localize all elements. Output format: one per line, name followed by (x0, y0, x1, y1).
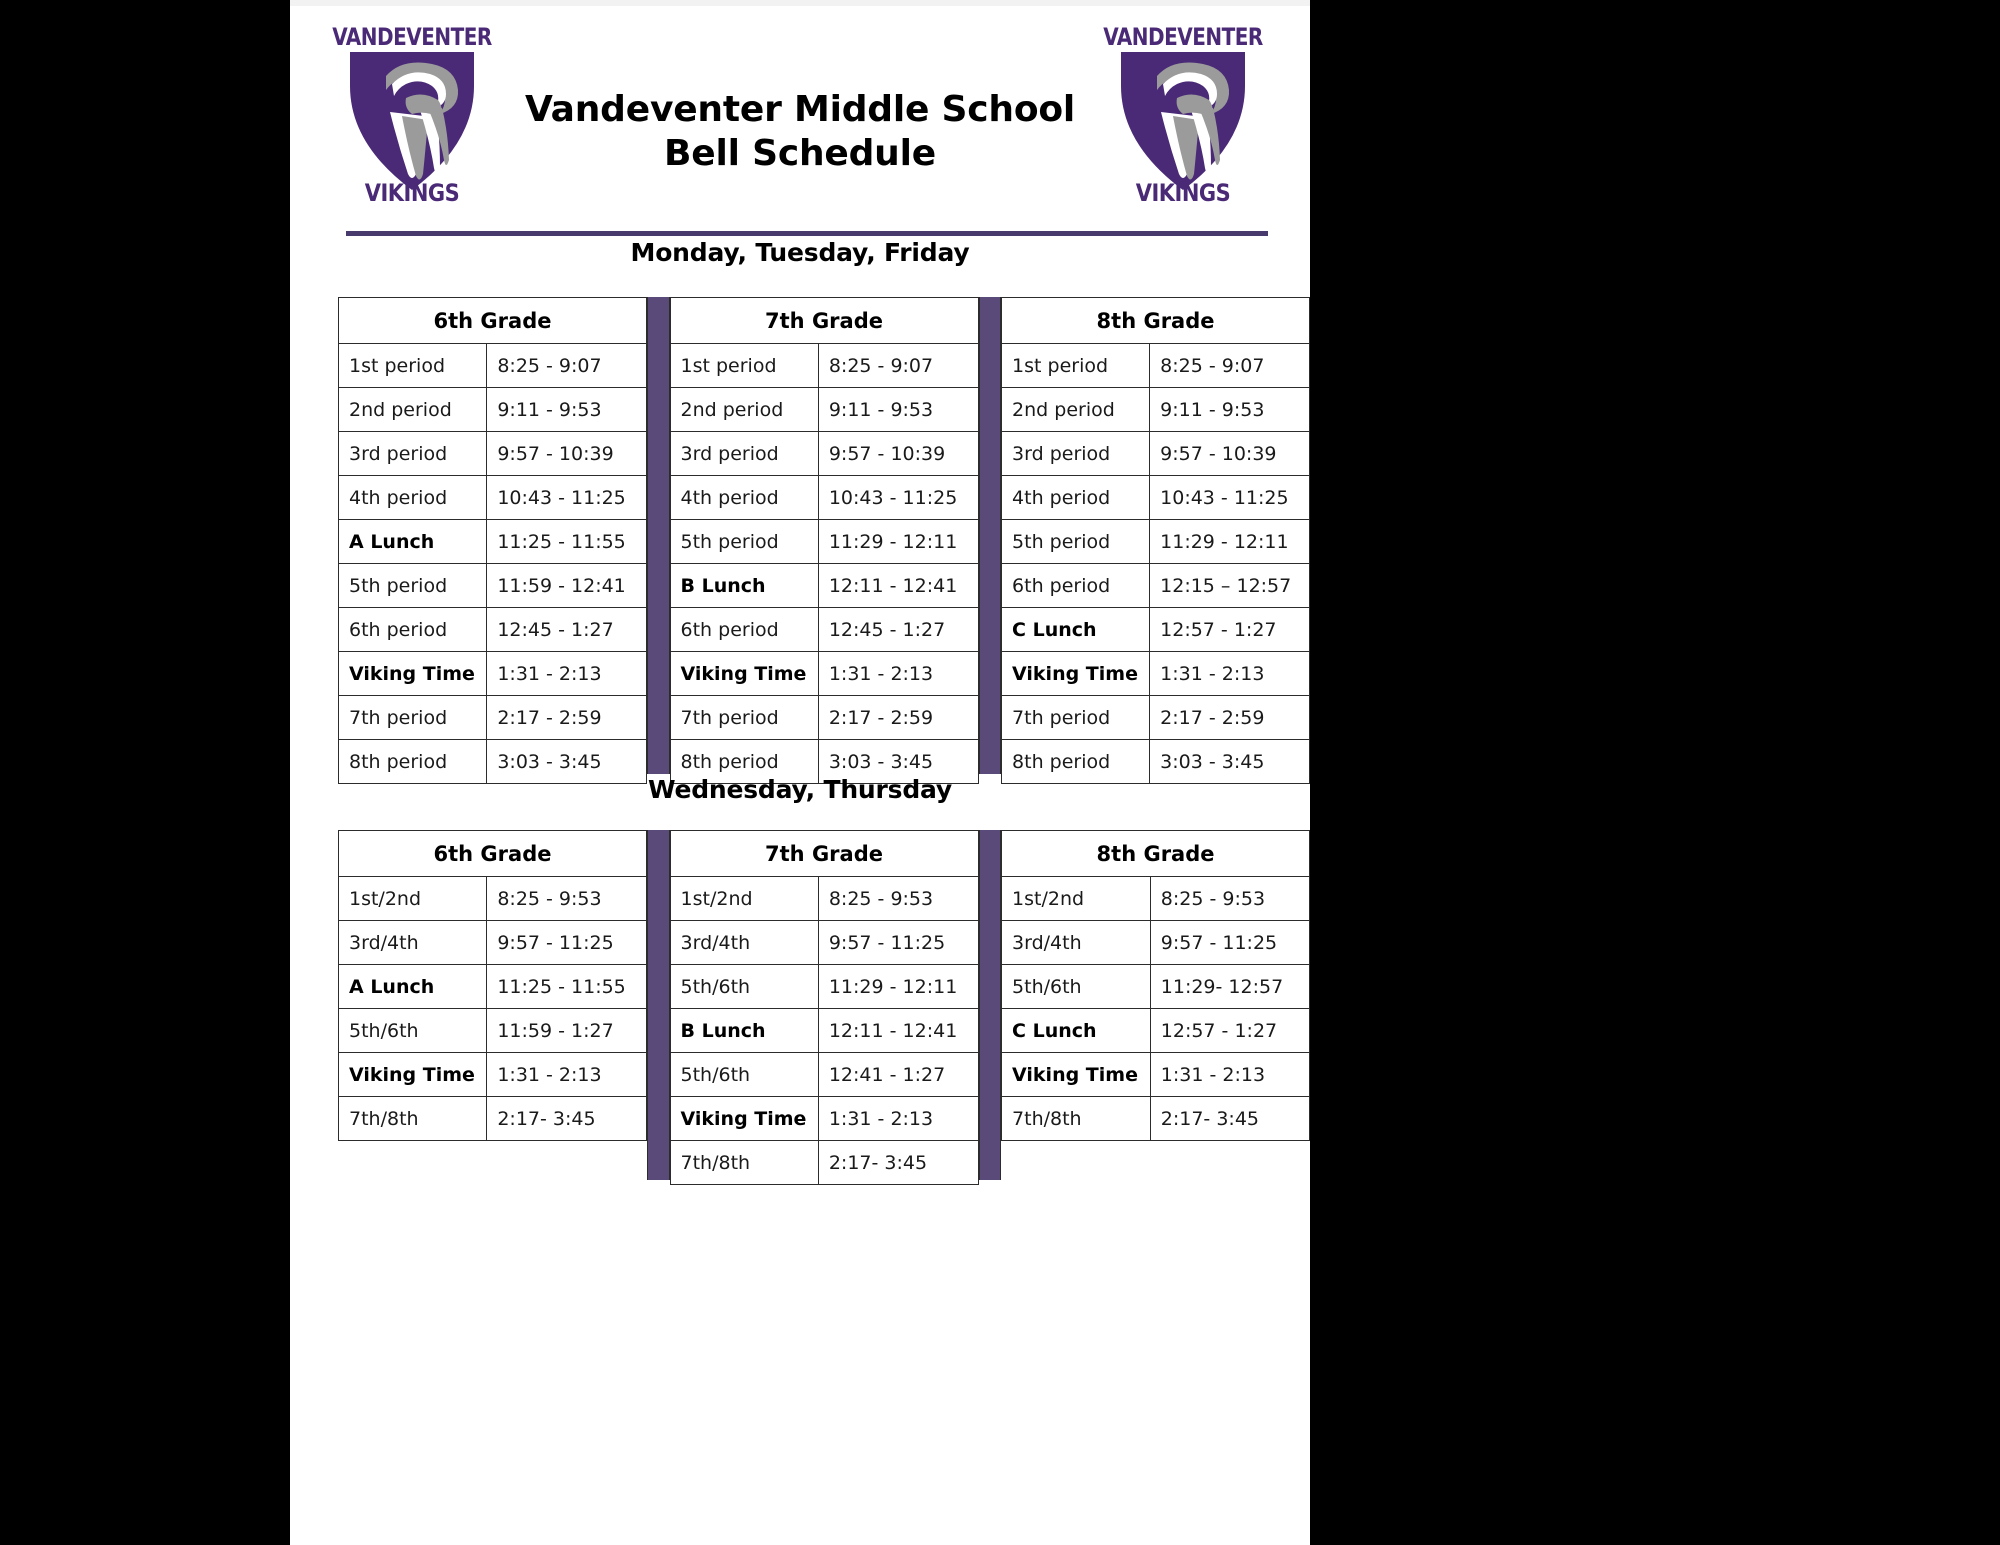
period-time: 1:31 - 2:13 (487, 1053, 647, 1097)
section-heading-mtf: Monday, Tuesday, Friday (290, 238, 1310, 267)
schedule-table-mtf-7th: 7th Grade 1st period8:25 - 9:07 2nd peri… (670, 297, 979, 784)
table-row: B Lunch12:11 - 12:41 (670, 564, 978, 608)
period-time: 12:57 - 1:27 (1150, 1009, 1309, 1053)
period-label: Viking Time (670, 1097, 818, 1141)
period-label: 1st/2nd (1002, 877, 1151, 921)
table-row: 3rd period9:57 - 10:39 (1002, 432, 1310, 476)
period-time: 12:15 – 12:57 (1150, 564, 1310, 608)
table-row: 1st period8:25 - 9:07 (1002, 344, 1310, 388)
title-block: Vandeventer Middle School Bell Schedule (520, 88, 1080, 176)
period-time: 9:11 - 9:53 (818, 388, 978, 432)
period-time: 1:31 - 2:13 (818, 1097, 978, 1141)
period-label: 3rd period (670, 432, 818, 476)
period-label: 3rd/4th (339, 921, 487, 965)
period-time: 11:29 - 12:11 (818, 965, 978, 1009)
table-row: 5th period11:29 - 12:11 (1002, 520, 1310, 564)
period-label: 5th/6th (339, 1009, 487, 1053)
period-time: 11:59 - 1:27 (487, 1009, 647, 1053)
table-row: 3rd period9:57 - 10:39 (339, 432, 647, 476)
period-label: 6th period (1002, 564, 1150, 608)
period-time: 2:17- 3:45 (1150, 1097, 1309, 1141)
table-row: 1st/2nd8:25 - 9:53 (670, 877, 978, 921)
period-label: 7th period (670, 696, 818, 740)
table-row: A Lunch11:25 - 11:55 (339, 520, 647, 564)
period-label: 4th period (670, 476, 818, 520)
table-row: 1st/2nd8:25 - 9:53 (339, 877, 647, 921)
table-row: 6th period12:45 - 1:27 (670, 608, 978, 652)
period-time: 2:17- 3:45 (487, 1097, 647, 1141)
period-label: 4th period (1002, 476, 1150, 520)
table-row: 2nd period9:11 - 9:53 (670, 388, 978, 432)
table-row: 1st period8:25 - 9:07 (670, 344, 978, 388)
table-row: 1st period8:25 - 9:07 (339, 344, 647, 388)
period-label: 7th/8th (339, 1097, 487, 1141)
schedule-table-wt-6th: 6th Grade 1st/2nd8:25 - 9:53 3rd/4th9:57… (338, 830, 647, 1141)
period-label: Viking Time (670, 652, 818, 696)
table-row: 7th/8th2:17- 3:45 (339, 1097, 647, 1141)
period-time: 8:25 - 9:07 (487, 344, 647, 388)
period-label: B Lunch (670, 1009, 818, 1053)
period-time: 2:17- 3:45 (818, 1141, 978, 1185)
period-label: 1st/2nd (670, 877, 818, 921)
grade-header: 8th Grade (1002, 298, 1310, 344)
table-row: Viking Time1:31 - 2:13 (339, 652, 647, 696)
table-row: 3rd/4th9:57 - 11:25 (670, 921, 978, 965)
column-divider-1 (647, 297, 670, 774)
viking-logo-mark: VANDEVENTER VIKINGS (1103, 25, 1263, 204)
table-row: 5th/6th11:29 - 12:11 (670, 965, 978, 1009)
period-time: 11:59 - 12:41 (487, 564, 647, 608)
grade-header: 7th Grade (670, 831, 978, 877)
period-time: 1:31 - 2:13 (487, 652, 647, 696)
table-row: 6th period12:45 - 1:27 (339, 608, 647, 652)
period-time: 9:11 - 9:53 (1150, 388, 1310, 432)
svg-text:VANDEVENTER: VANDEVENTER (332, 25, 492, 52)
period-label: 7th/8th (670, 1141, 818, 1185)
period-time: 12:11 - 12:41 (818, 564, 978, 608)
table-row: 7th/8th2:17- 3:45 (670, 1141, 978, 1185)
period-label: 1st period (670, 344, 818, 388)
schedule-table-mtf-6th: 6th Grade 1st period8:25 - 9:07 2nd peri… (338, 297, 647, 784)
period-label: 2nd period (1002, 388, 1150, 432)
period-label: 3rd/4th (1002, 921, 1151, 965)
viking-logo-mark: VANDEVENTER VIKINGS (332, 25, 492, 204)
table-row: 1st/2nd8:25 - 9:53 (1002, 877, 1310, 921)
period-label: 3rd period (1002, 432, 1150, 476)
period-time: 9:57 - 10:39 (487, 432, 647, 476)
table-row: 3rd/4th9:57 - 11:25 (339, 921, 647, 965)
table-row: Viking Time1:31 - 2:13 (1002, 652, 1310, 696)
schedule-table-wt-8th: 8th Grade 1st/2nd8:25 - 9:53 3rd/4th9:57… (1001, 830, 1310, 1141)
table-row: 7th period2:17 - 2:59 (1002, 696, 1310, 740)
period-time: 2:17 - 2:59 (1150, 696, 1310, 740)
table-row: 5th/6th12:41 - 1:27 (670, 1053, 978, 1097)
document-header: VANDEVENTER VIKINGS (290, 0, 1310, 208)
table-row: 4th period10:43 - 11:25 (1002, 476, 1310, 520)
period-label: 6th period (670, 608, 818, 652)
period-label: 5th/6th (1002, 965, 1151, 1009)
period-time: 12:57 - 1:27 (1150, 608, 1310, 652)
table-row: 2nd period9:11 - 9:53 (339, 388, 647, 432)
period-label: Viking Time (1002, 652, 1150, 696)
grade-header: 6th Grade (339, 298, 647, 344)
period-label: C Lunch (1002, 1009, 1151, 1053)
column-divider-3 (647, 830, 670, 1180)
period-label: Viking Time (339, 1053, 487, 1097)
period-label: 5th period (1002, 520, 1150, 564)
period-label: 1st/2nd (339, 877, 487, 921)
period-time: 11:25 - 11:55 (487, 965, 647, 1009)
period-label: A Lunch (339, 965, 487, 1009)
period-time: 12:45 - 1:27 (818, 608, 978, 652)
period-label: 6th period (339, 608, 487, 652)
period-time: 9:57 - 11:25 (1150, 921, 1309, 965)
period-time: 8:25 - 9:53 (1150, 877, 1309, 921)
table-row: 5th period11:29 - 12:11 (670, 520, 978, 564)
section-heading-wt: Wednesday, Thursday (290, 775, 1310, 804)
viking-logo-left: VANDEVENTER VIKINGS (328, 24, 496, 204)
period-time: 11:29 - 12:11 (818, 520, 978, 564)
schedule-table-wt-7th: 7th Grade 1st/2nd8:25 - 9:53 3rd/4th9:57… (670, 830, 979, 1185)
period-label: 2nd period (670, 388, 818, 432)
table-row: 7th/8th2:17- 3:45 (1002, 1097, 1310, 1141)
table-row: B Lunch12:11 - 12:41 (670, 1009, 978, 1053)
school-name: Vandeventer Middle School (520, 88, 1080, 132)
period-label: C Lunch (1002, 608, 1150, 652)
table-row: 3rd period9:57 - 10:39 (670, 432, 978, 476)
period-label: B Lunch (670, 564, 818, 608)
period-time: 11:29 - 12:11 (1150, 520, 1310, 564)
period-label: 4th period (339, 476, 487, 520)
table-row: Viking Time1:31 - 2:13 (1002, 1053, 1310, 1097)
grade-header: 8th Grade (1002, 831, 1310, 877)
period-label: 5th period (339, 564, 487, 608)
schedule-table-mtf-8th: 8th Grade 1st period8:25 - 9:07 2nd peri… (1001, 297, 1310, 784)
svg-text:VIKINGS: VIKINGS (1136, 180, 1231, 204)
page-title: Bell Schedule (520, 132, 1080, 176)
period-time: 1:31 - 2:13 (1150, 652, 1310, 696)
period-time: 8:25 - 9:53 (487, 877, 647, 921)
table-row: Viking Time1:31 - 2:13 (339, 1053, 647, 1097)
viking-logo-right: VANDEVENTER VIKINGS (1096, 24, 1270, 204)
period-time: 12:41 - 1:27 (818, 1053, 978, 1097)
table-row: 4th period10:43 - 11:25 (339, 476, 647, 520)
period-label: 5th/6th (670, 1053, 818, 1097)
table-row: 7th period2:17 - 2:59 (670, 696, 978, 740)
column-divider-2 (979, 297, 1002, 774)
table-row: C Lunch12:57 - 1:27 (1002, 1009, 1310, 1053)
table-row: 5th/6th11:29- 12:57 (1002, 965, 1310, 1009)
schedule-grid-wt: 6th Grade 1st/2nd8:25 - 9:53 3rd/4th9:57… (338, 830, 1310, 1185)
period-label: 5th/6th (670, 965, 818, 1009)
period-label: 3rd/4th (670, 921, 818, 965)
period-label: 1st period (339, 344, 487, 388)
period-label: 3rd period (339, 432, 487, 476)
table-row: Viking Time1:31 - 2:13 (670, 652, 978, 696)
period-label: Viking Time (1002, 1053, 1151, 1097)
table-row: 2nd period9:11 - 9:53 (1002, 388, 1310, 432)
period-time: 12:11 - 12:41 (818, 1009, 978, 1053)
svg-text:VIKINGS: VIKINGS (365, 180, 460, 204)
period-time: 2:17 - 2:59 (818, 696, 978, 740)
period-time: 9:11 - 9:53 (487, 388, 647, 432)
grade-header: 7th Grade (670, 298, 978, 344)
period-time: 12:45 - 1:27 (487, 608, 647, 652)
header-divider-rule (346, 231, 1268, 236)
table-row: 5th period11:59 - 12:41 (339, 564, 647, 608)
period-time: 9:57 - 10:39 (1150, 432, 1310, 476)
table-row: A Lunch11:25 - 11:55 (339, 965, 647, 1009)
period-time: 8:25 - 9:07 (1150, 344, 1310, 388)
table-row: 4th period10:43 - 11:25 (670, 476, 978, 520)
table-row: 7th period2:17 - 2:59 (339, 696, 647, 740)
period-time: 10:43 - 11:25 (1150, 476, 1310, 520)
period-time: 10:43 - 11:25 (487, 476, 647, 520)
period-time: 11:29- 12:57 (1150, 965, 1309, 1009)
table-row: C Lunch12:57 - 1:27 (1002, 608, 1310, 652)
period-label: 2nd period (339, 388, 487, 432)
schedule-grid-mtf: 6th Grade 1st period8:25 - 9:07 2nd peri… (338, 297, 1310, 784)
period-time: 2:17 - 2:59 (487, 696, 647, 740)
period-time: 9:57 - 11:25 (487, 921, 647, 965)
period-time: 11:25 - 11:55 (487, 520, 647, 564)
table-row: Viking Time1:31 - 2:13 (670, 1097, 978, 1141)
period-label: Viking Time (339, 652, 487, 696)
grade-header: 6th Grade (339, 831, 647, 877)
period-label: 7th/8th (1002, 1097, 1151, 1141)
svg-text:VANDEVENTER: VANDEVENTER (1103, 25, 1263, 52)
period-label: A Lunch (339, 520, 487, 564)
period-time: 1:31 - 2:13 (818, 652, 978, 696)
period-time: 9:57 - 10:39 (818, 432, 978, 476)
period-label: 1st period (1002, 344, 1150, 388)
period-time: 10:43 - 11:25 (818, 476, 978, 520)
period-label: 7th period (339, 696, 487, 740)
document-page: VANDEVENTER VIKINGS (290, 0, 1310, 1545)
period-time: 8:25 - 9:07 (818, 344, 978, 388)
period-time: 1:31 - 2:13 (1150, 1053, 1309, 1097)
period-label: 5th period (670, 520, 818, 564)
table-row: 3rd/4th9:57 - 11:25 (1002, 921, 1310, 965)
table-row: 5th/6th11:59 - 1:27 (339, 1009, 647, 1053)
column-divider-4 (979, 830, 1002, 1180)
period-label: 7th period (1002, 696, 1150, 740)
table-row: 6th period12:15 – 12:57 (1002, 564, 1310, 608)
period-time: 9:57 - 11:25 (818, 921, 978, 965)
period-time: 8:25 - 9:53 (818, 877, 978, 921)
